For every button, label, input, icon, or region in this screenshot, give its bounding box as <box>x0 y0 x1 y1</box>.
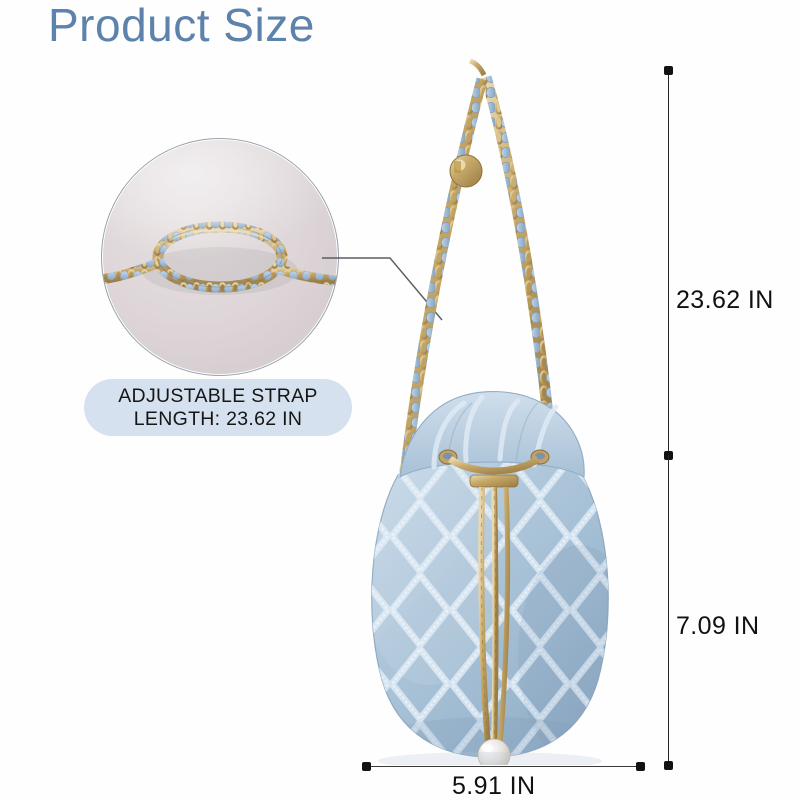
page-title: Product Size <box>48 0 315 52</box>
dimension-label-strap-drop: 23.62 IN <box>676 286 774 315</box>
coiled-chain-illustration <box>102 139 338 375</box>
dimension-label-bag-width: 5.91 IN <box>452 772 535 800</box>
dimension-endpoint-top <box>664 66 673 75</box>
dimension-line-bag-width <box>366 766 640 767</box>
dimension-label-bag-height: 7.09 IN <box>676 612 759 641</box>
callout-line-1: ADJUSTABLE STRAP <box>118 385 318 408</box>
callout-line-2: LENGTH: 23.62 IN <box>134 408 302 431</box>
strap-detail-magnifier <box>101 138 339 376</box>
denim-bucket-bag-photo <box>330 55 650 765</box>
product-size-infographic: Product Size <box>0 0 800 800</box>
dimension-line-strap-drop <box>668 70 669 455</box>
dimension-endpoint-left <box>362 762 371 771</box>
dimension-endpoint-right <box>636 762 645 771</box>
dimension-endpoint-bottom <box>664 761 673 770</box>
dimension-line-bag-height <box>668 455 669 765</box>
adjustable-strap-callout: ADJUSTABLE STRAP LENGTH: 23.62 IN <box>84 379 352 436</box>
